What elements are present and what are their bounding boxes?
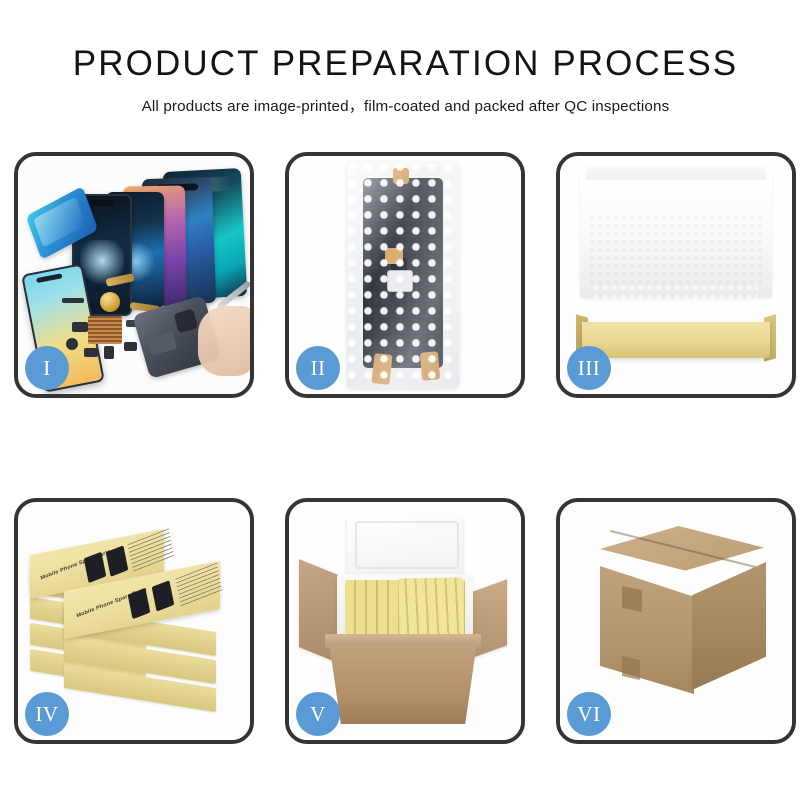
step-badge-4: IV bbox=[25, 692, 69, 736]
box-label-phone-image bbox=[106, 545, 129, 576]
small-part-icon bbox=[84, 348, 98, 357]
carton-body-icon bbox=[329, 642, 477, 724]
carton-side-face bbox=[692, 562, 766, 690]
foam-lid-icon bbox=[347, 514, 463, 576]
shipping-carton-icon bbox=[578, 526, 778, 706]
header: PRODUCT PREPARATION PROCESS All products… bbox=[0, 0, 811, 116]
foam-sheet-icon bbox=[588, 214, 764, 288]
boxed-contents-icon bbox=[398, 577, 463, 638]
plastic-sheen bbox=[347, 162, 459, 388]
page-title: PRODUCT PREPARATION PROCESS bbox=[0, 0, 811, 83]
small-part-icon bbox=[62, 298, 84, 303]
small-part-icon bbox=[72, 322, 88, 332]
step-panel-2: II bbox=[285, 152, 525, 398]
bubble-wrap-package-icon bbox=[347, 162, 459, 388]
product-preparation-infographic: PRODUCT PREPARATION PROCESS All products… bbox=[0, 0, 811, 811]
chip-grid-icon bbox=[88, 316, 122, 344]
box-label-phone-image bbox=[152, 580, 175, 611]
coil-part-icon bbox=[100, 292, 120, 312]
step-badge-3: III bbox=[567, 346, 611, 390]
carton-tape-icon bbox=[622, 586, 642, 612]
step-badge-6: VI bbox=[567, 692, 611, 736]
page-subtitle: All products are image-printed，film-coat… bbox=[0, 83, 811, 116]
box-label-lines bbox=[128, 528, 175, 572]
step-panel-1: I bbox=[14, 152, 254, 398]
step-badge-2: II bbox=[296, 346, 340, 390]
step-badge-5: V bbox=[296, 692, 340, 736]
hand-icon bbox=[198, 306, 250, 376]
small-part-icon bbox=[124, 342, 137, 351]
bubble-wrap-contents-icon bbox=[592, 284, 758, 324]
steps-grid: I II bbox=[14, 152, 797, 797]
box-label-lines bbox=[176, 563, 223, 607]
box-stack-icon: Mobile Phone Spare Parts Mobile Phone Sp… bbox=[24, 524, 246, 720]
box-label-phone-image bbox=[128, 588, 151, 619]
step-badge-1: I bbox=[25, 346, 69, 390]
step-panel-3: III bbox=[556, 152, 796, 398]
step-panel-5: V bbox=[285, 498, 525, 744]
step-panel-6: VI bbox=[556, 498, 796, 744]
carton-tape-icon bbox=[622, 656, 640, 680]
step-panel-4: Mobile Phone Spare Parts Mobile Phone Sp… bbox=[14, 498, 254, 744]
small-part-icon bbox=[104, 346, 114, 359]
small-part-icon bbox=[66, 338, 78, 350]
carton-front-face bbox=[600, 566, 694, 694]
yellow-box-front-icon bbox=[582, 322, 770, 358]
